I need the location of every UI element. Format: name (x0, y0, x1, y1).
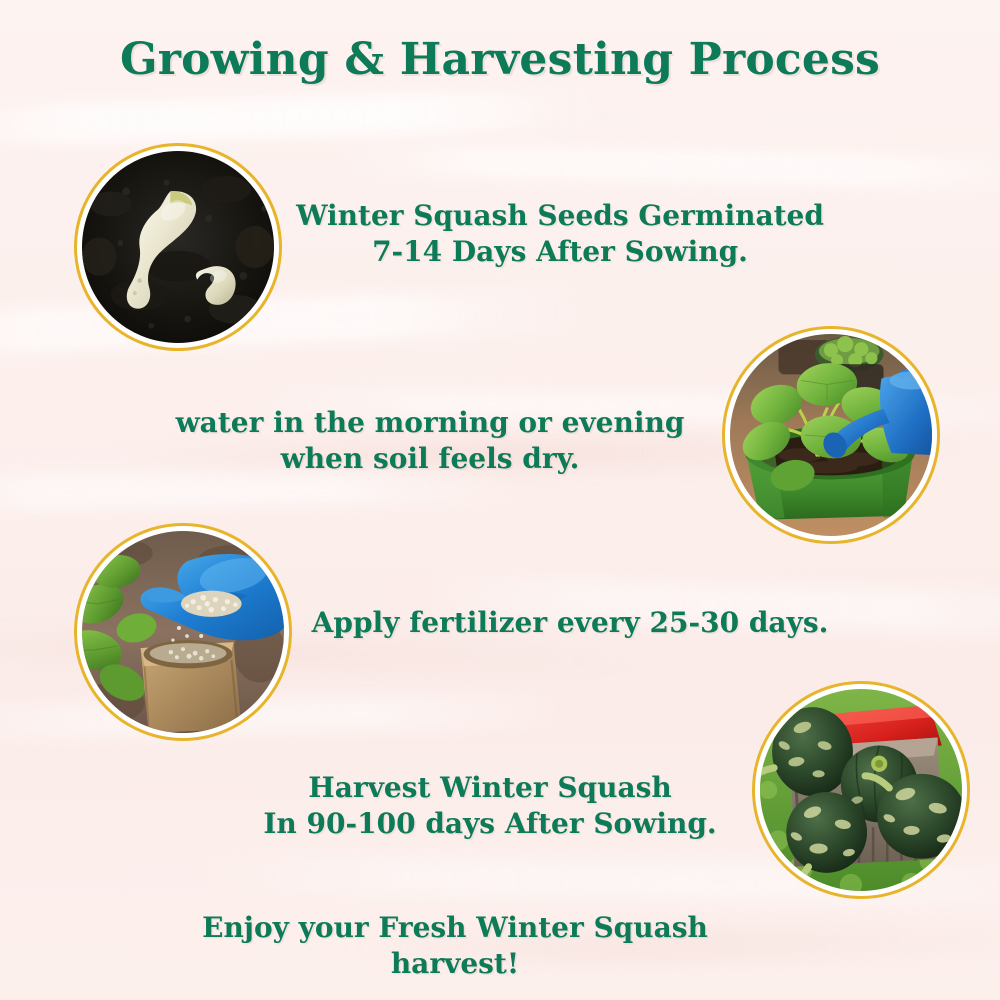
page-title: Growing & Harvesting Process (0, 34, 1000, 85)
photo-frame (760, 689, 962, 891)
germinating-seeds-illustration (82, 151, 274, 343)
germination-step-text: Winter Squash Seeds Germinated 7-14 Days… (290, 198, 830, 270)
germination-text-line2: 7-14 Days After Sowing. (290, 234, 830, 270)
infographic-poster: Growing & Harvesting Process (0, 0, 1000, 1000)
enjoy-text-line1: Enjoy your Fresh Winter Squash (165, 910, 745, 946)
harvest-step-text: Harvest Winter Squash In 90-100 days Aft… (240, 770, 740, 842)
watering-step-text: water in the morning or evening when soi… (160, 405, 700, 477)
watering-illustration (730, 334, 932, 536)
fertilizer-text-line1: Apply fertilizer every 25-30 days. (280, 605, 860, 641)
germinating-seeds-photo (74, 143, 282, 351)
photo-frame (730, 334, 932, 536)
background-brush-stroke (0, 89, 600, 147)
harvest-text-line1: Harvest Winter Squash (240, 770, 740, 806)
harvest-text-line2: In 90-100 days After Sowing. (240, 806, 740, 842)
fertilizer-step-text: Apply fertilizer every 25-30 days. (280, 605, 860, 641)
watering-text-line1: water in the morning or evening (160, 405, 700, 441)
fertilizer-photo (74, 523, 292, 741)
background-brush-stroke (330, 142, 1000, 192)
fertilizer-illustration (82, 531, 284, 733)
enjoy-step-text: Enjoy your Fresh Winter Squash harvest! (165, 910, 745, 982)
watering-text-line2: when soil feels dry. (160, 441, 700, 477)
watering-plant-photo (722, 326, 940, 544)
fertilizer-bag (141, 640, 242, 733)
harvested-squash-photo (752, 681, 970, 899)
germination-text-line1: Winter Squash Seeds Germinated (290, 198, 830, 234)
enjoy-text-line2: harvest! (165, 946, 745, 982)
photo-frame (82, 151, 274, 343)
photo-frame (82, 531, 284, 733)
background-brush-stroke (0, 692, 560, 741)
harvest-illustration (760, 689, 962, 891)
